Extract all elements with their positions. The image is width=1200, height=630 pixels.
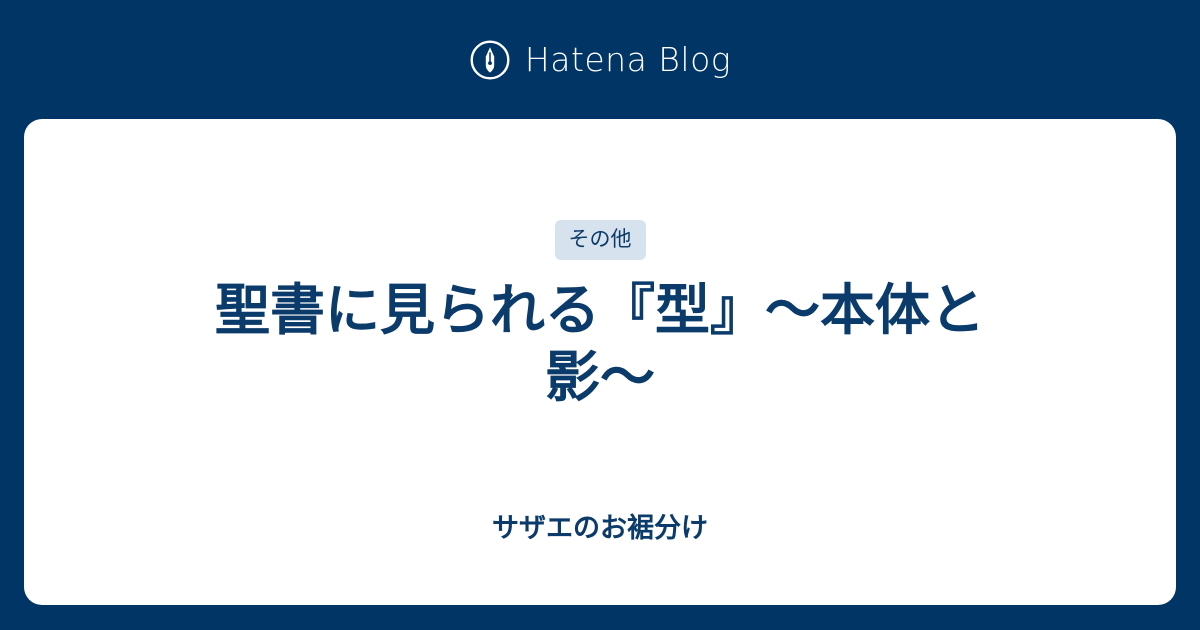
hatena-blog-brand-bar: Hatena Blog: [0, 0, 1200, 119]
entry-title: 聖書に見られる『型』〜本体と影〜: [185, 277, 1015, 411]
og-image-root: Hatena Blog その他 聖書に見られる『型』〜本体と影〜 サザエのお裾分…: [0, 0, 1200, 630]
hatena-blog-service-name: Hatena Blog: [525, 43, 731, 76]
fountain-pen-nib-circle-icon: [469, 39, 511, 81]
entry-card: その他 聖書に見られる『型』〜本体と影〜 サザエのお裾分け: [24, 119, 1176, 605]
blog-name: サザエのお裾分け: [24, 512, 1176, 544]
category-badge[interactable]: その他: [555, 220, 646, 260]
